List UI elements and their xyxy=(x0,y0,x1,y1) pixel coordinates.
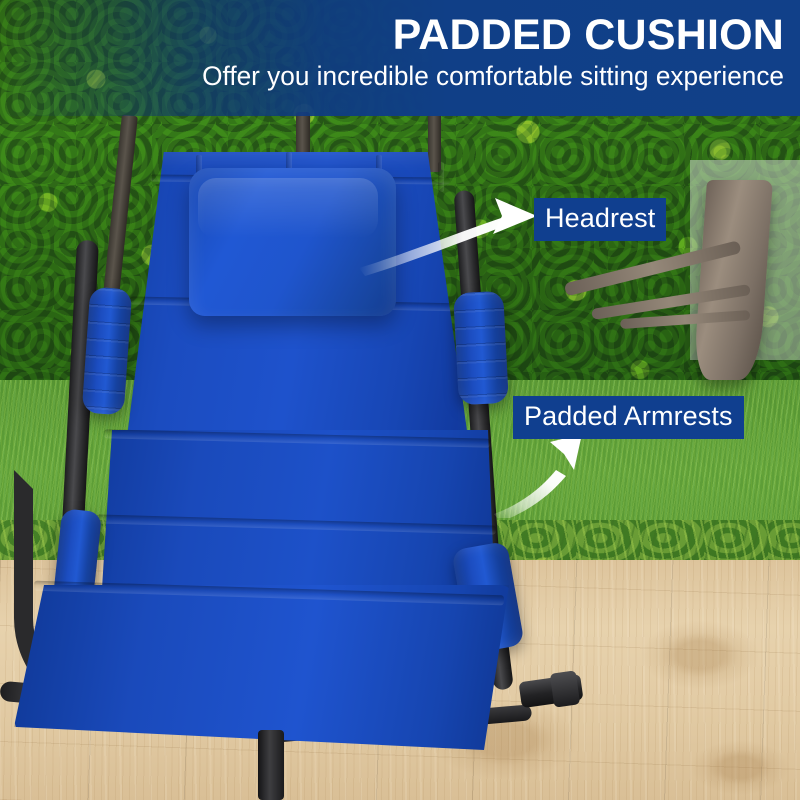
curved-arrow-right-up-icon xyxy=(355,188,555,278)
headrest-pillow-highlight xyxy=(198,178,378,238)
seat-cushion xyxy=(14,585,514,750)
page-subtitle: Offer you incredible comfortable sitting… xyxy=(24,61,784,92)
deck-knot xyxy=(640,620,760,690)
page-title: PADDED CUSHION xyxy=(0,14,784,58)
callout-label-padded-armrests: Padded Armrests xyxy=(513,396,744,439)
center-pedestal-base xyxy=(258,730,284,800)
deck-knot xyxy=(690,740,790,795)
right-padded-armrest-ribs xyxy=(453,291,509,405)
base-foot-cap-end xyxy=(550,670,580,707)
curved-arrow-right-up-icon xyxy=(488,428,603,518)
callout-label-headrest: Headrest xyxy=(534,198,666,241)
product-feature-image: Headrest Padded Armrests PADDED CUSHION … xyxy=(0,0,800,800)
left-padded-armrest-ribs xyxy=(82,287,133,416)
header-text-group: PADDED CUSHION Offer you incredible comf… xyxy=(0,0,800,116)
